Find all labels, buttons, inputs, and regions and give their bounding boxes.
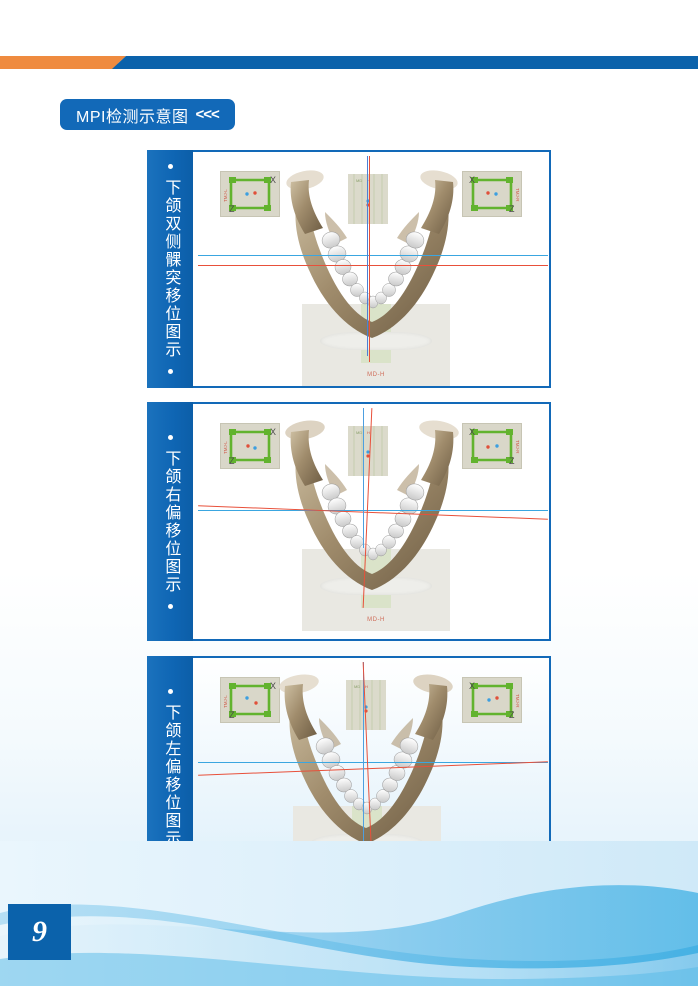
svg-text:TMJ-L: TMJ-L — [223, 189, 228, 202]
bullet-dot-icon-bottom — [168, 369, 173, 374]
mandible-illustration — [261, 166, 483, 358]
footer-waves — [0, 841, 698, 986]
footer-decoration: 9 — [0, 841, 698, 986]
panel-tab-bilateral-condyle: 下颌双侧髁突移位图示 — [147, 150, 193, 388]
svg-text:TMJ-L: TMJ-L — [223, 695, 228, 708]
diagram-stage: X Z TMJ-L X Z TMJ-R — [193, 404, 549, 639]
section-title-text: MPI检测示意图 — [76, 103, 188, 127]
diagram-panel-bilateral-condyle: 下颌双侧髁突移位图示 X Z TMJ-L — [147, 150, 551, 388]
header-blue-segment — [112, 56, 698, 69]
panel-tab-right-deviation: 下颌右偏移位图示 — [147, 402, 193, 641]
header-accent-bar — [0, 56, 698, 69]
page-number-box: 9 — [8, 904, 71, 960]
reference-line-red-vertical — [369, 156, 370, 362]
bullet-dot-icon-bottom — [168, 604, 173, 609]
svg-text:TMJ-R: TMJ-R — [515, 440, 520, 454]
svg-text:Z: Z — [229, 710, 235, 720]
reference-line-blue-vertical — [363, 408, 364, 548]
chevron-left-triple-icon: <<< — [195, 106, 218, 123]
svg-text:Z: Z — [509, 456, 515, 466]
svg-text:TMJ-R: TMJ-R — [515, 188, 520, 202]
svg-text:Z: Z — [509, 710, 515, 720]
svg-text:TMJ-R: TMJ-R — [515, 694, 520, 708]
page-number: 9 — [32, 915, 47, 949]
diagram-panel-right-deviation: 下颌右偏移位图示 X Z TMJ-L — [147, 402, 551, 641]
panel-tab-label: 下颌右偏移位图示 — [162, 450, 179, 594]
svg-text:Z: Z — [229, 456, 235, 466]
svg-text:Z: Z — [509, 204, 515, 214]
panel-tab-label: 下颌双侧髁突移位图示 — [162, 179, 179, 359]
header-orange-segment — [0, 56, 118, 69]
reference-line-blue-vertical — [367, 156, 368, 356]
reference-line-red-horizontal — [198, 265, 548, 266]
panel-tab-label: 下颌左偏移位图示 — [162, 704, 179, 848]
bullet-dot-icon-top — [168, 435, 173, 440]
svg-text:TMJ-L: TMJ-L — [223, 441, 228, 454]
section-title-badge: MPI检测示意图 <<< — [60, 99, 235, 130]
pad-label: MD-H — [302, 372, 450, 378]
svg-text:Z: Z — [229, 204, 235, 214]
pad-label: MD-H — [302, 617, 450, 623]
bullet-dot-icon-top — [168, 689, 173, 694]
bullet-dot-icon-top — [168, 164, 173, 169]
diagram-stage: X Z TMJ-L X Z TMJ-R — [193, 152, 549, 386]
reference-line-blue-horizontal — [198, 255, 548, 256]
reference-line-blue-horizontal — [198, 510, 548, 511]
